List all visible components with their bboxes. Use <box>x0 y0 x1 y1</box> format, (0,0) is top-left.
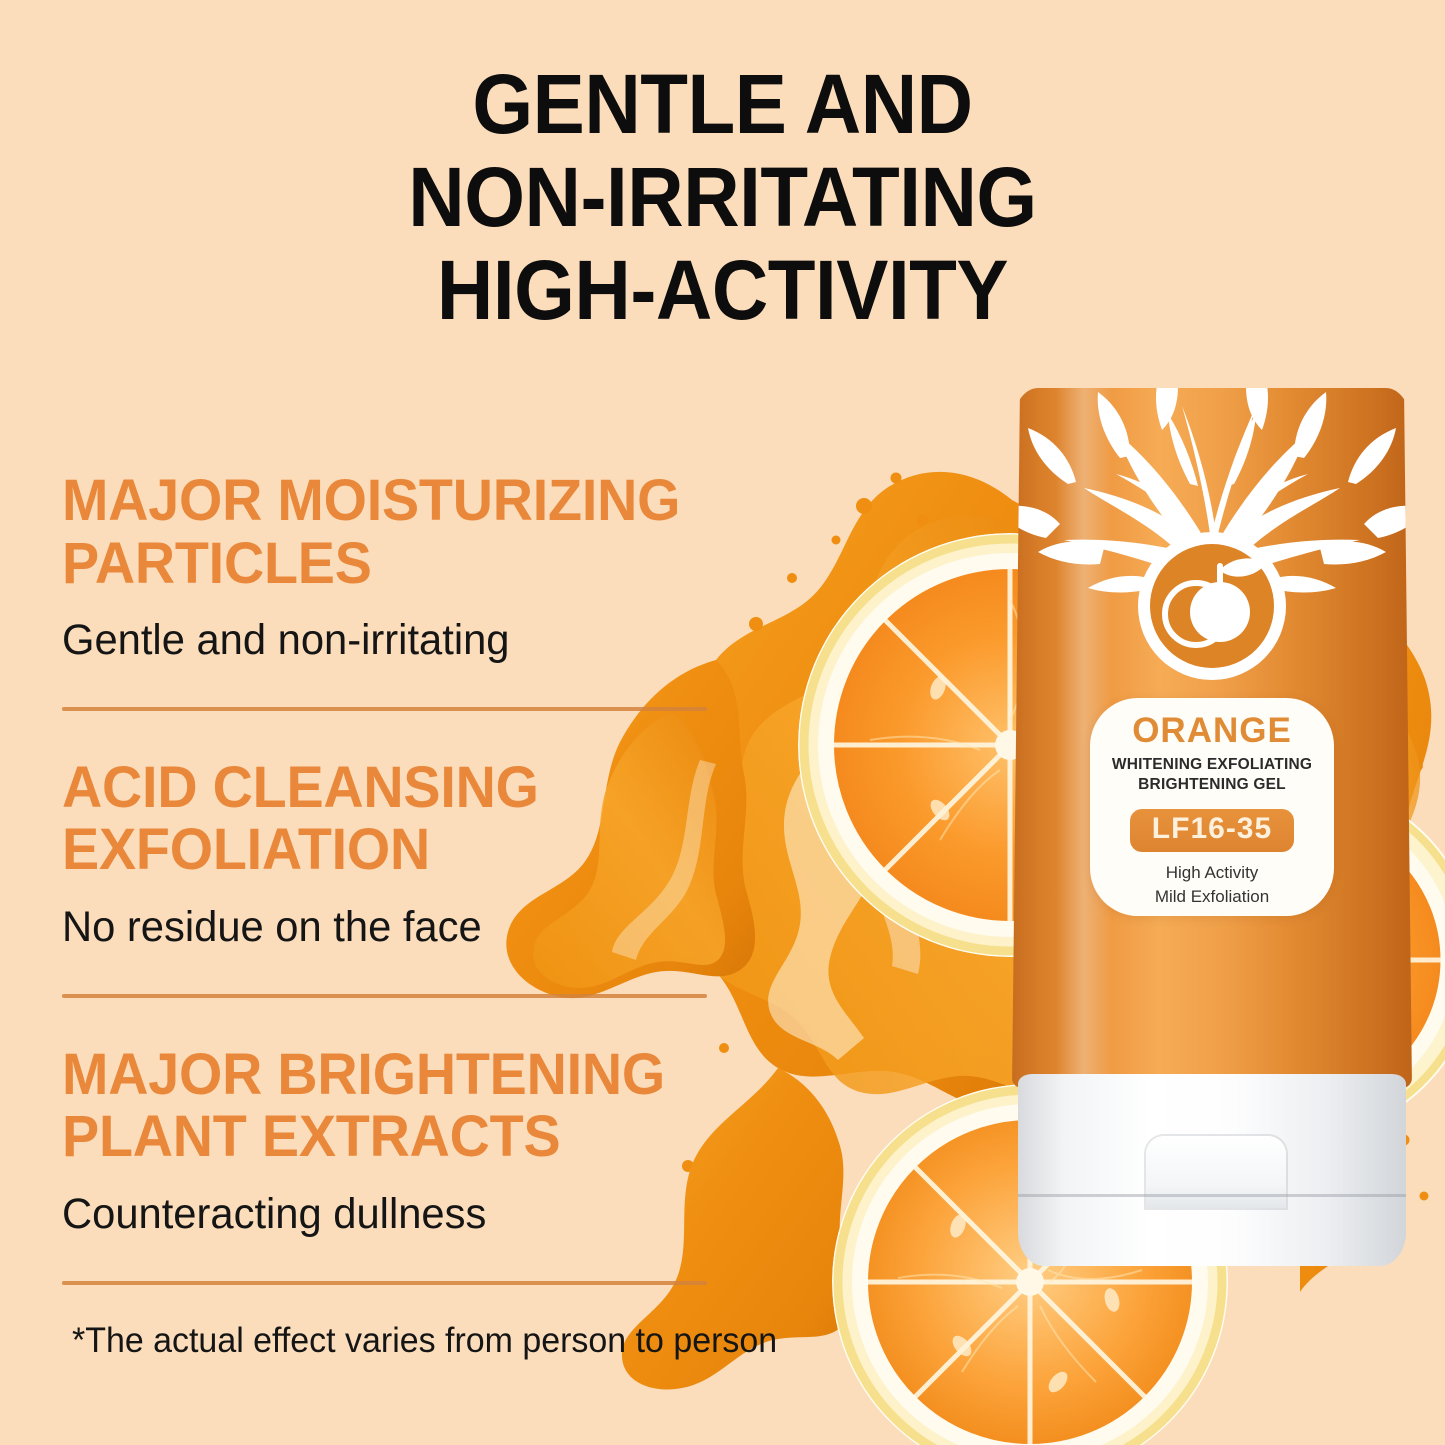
spacer <box>0 711 760 757</box>
tube-body: ORANGE WHITENING EXFOLIATING BRIGHTENING… <box>1012 388 1412 1088</box>
headline-line-2: NON-IRRITATING <box>51 151 1395 244</box>
tube-cap <box>1018 1074 1406 1266</box>
disclaimer-note: *The actual effect varies from person to… <box>72 1321 739 1361</box>
feature-subtitle: Gentle and non-irritating <box>62 615 739 667</box>
product-description: WHITENING EXFOLIATING BRIGHTENING GEL <box>1090 755 1334 796</box>
headline-line-1: GENTLE AND <box>51 58 1395 151</box>
headline-line-3: HIGH-ACTIVITY <box>51 244 1395 337</box>
orange-fruit-emblem-icon <box>1132 526 1292 686</box>
feature-title: MAJOR MOISTURIZING PARTICLES <box>62 470 732 595</box>
feature-divider <box>62 707 707 711</box>
feature-divider <box>62 1281 707 1285</box>
feature-subtitle: Counteracting dullness <box>62 1189 739 1241</box>
product-label: ORANGE WHITENING EXFOLIATING BRIGHTENING… <box>1090 698 1334 916</box>
cap-flip-tab <box>1146 1136 1286 1208</box>
feature-item-exfoliation: ACID CLEANSING EXFOLIATION No residue on… <box>0 757 760 954</box>
page-title: GENTLE AND NON-IRRITATING HIGH-ACTIVITY <box>51 58 1395 338</box>
product-feature-banner: GENTLE AND NON-IRRITATING HIGH-ACTIVITY … <box>0 0 1445 1445</box>
product-code-badge: LF16-35 <box>1130 809 1294 852</box>
feature-list: MAJOR MOISTURIZING PARTICLES Gentle and … <box>0 470 760 1361</box>
feature-title: ACID CLEANSING EXFOLIATION <box>62 757 732 882</box>
feature-divider <box>62 994 707 998</box>
product-brand: ORANGE <box>1090 712 1334 751</box>
product-claims: High Activity Mild Exfoliation <box>1090 861 1334 909</box>
cap-seam <box>1018 1194 1406 1197</box>
feature-item-moisturizing: MAJOR MOISTURIZING PARTICLES Gentle and … <box>0 470 760 667</box>
feature-title: MAJOR BRIGHTENING PLANT EXTRACTS <box>62 1044 732 1169</box>
feature-item-brightening: MAJOR BRIGHTENING PLANT EXTRACTS Counter… <box>0 1044 760 1241</box>
product-tube: ORANGE WHITENING EXFOLIATING BRIGHTENING… <box>1012 388 1412 1266</box>
feature-subtitle: No residue on the face <box>62 902 739 954</box>
spacer <box>0 998 760 1044</box>
